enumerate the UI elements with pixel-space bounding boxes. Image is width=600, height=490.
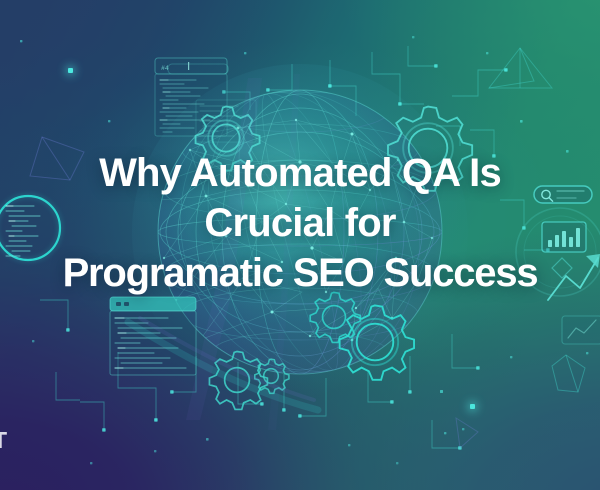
bar-chart-icon — [542, 222, 586, 252]
wireframe-polygon-left — [30, 137, 84, 180]
wireframe-diamond — [552, 355, 585, 392]
dashboard-card-fragment — [562, 316, 600, 344]
article-hero-banner: #4 — [0, 0, 600, 490]
wireframe-triangle-bottom — [456, 418, 478, 448]
code-ring — [0, 196, 60, 260]
logo-fragment[interactable]: T — [0, 429, 7, 452]
svg-text:#4: #4 — [161, 65, 169, 72]
hero-artwork: #4 — [0, 0, 600, 490]
wireframe-pyramid — [489, 48, 552, 88]
search-bar-icon — [534, 186, 592, 203]
